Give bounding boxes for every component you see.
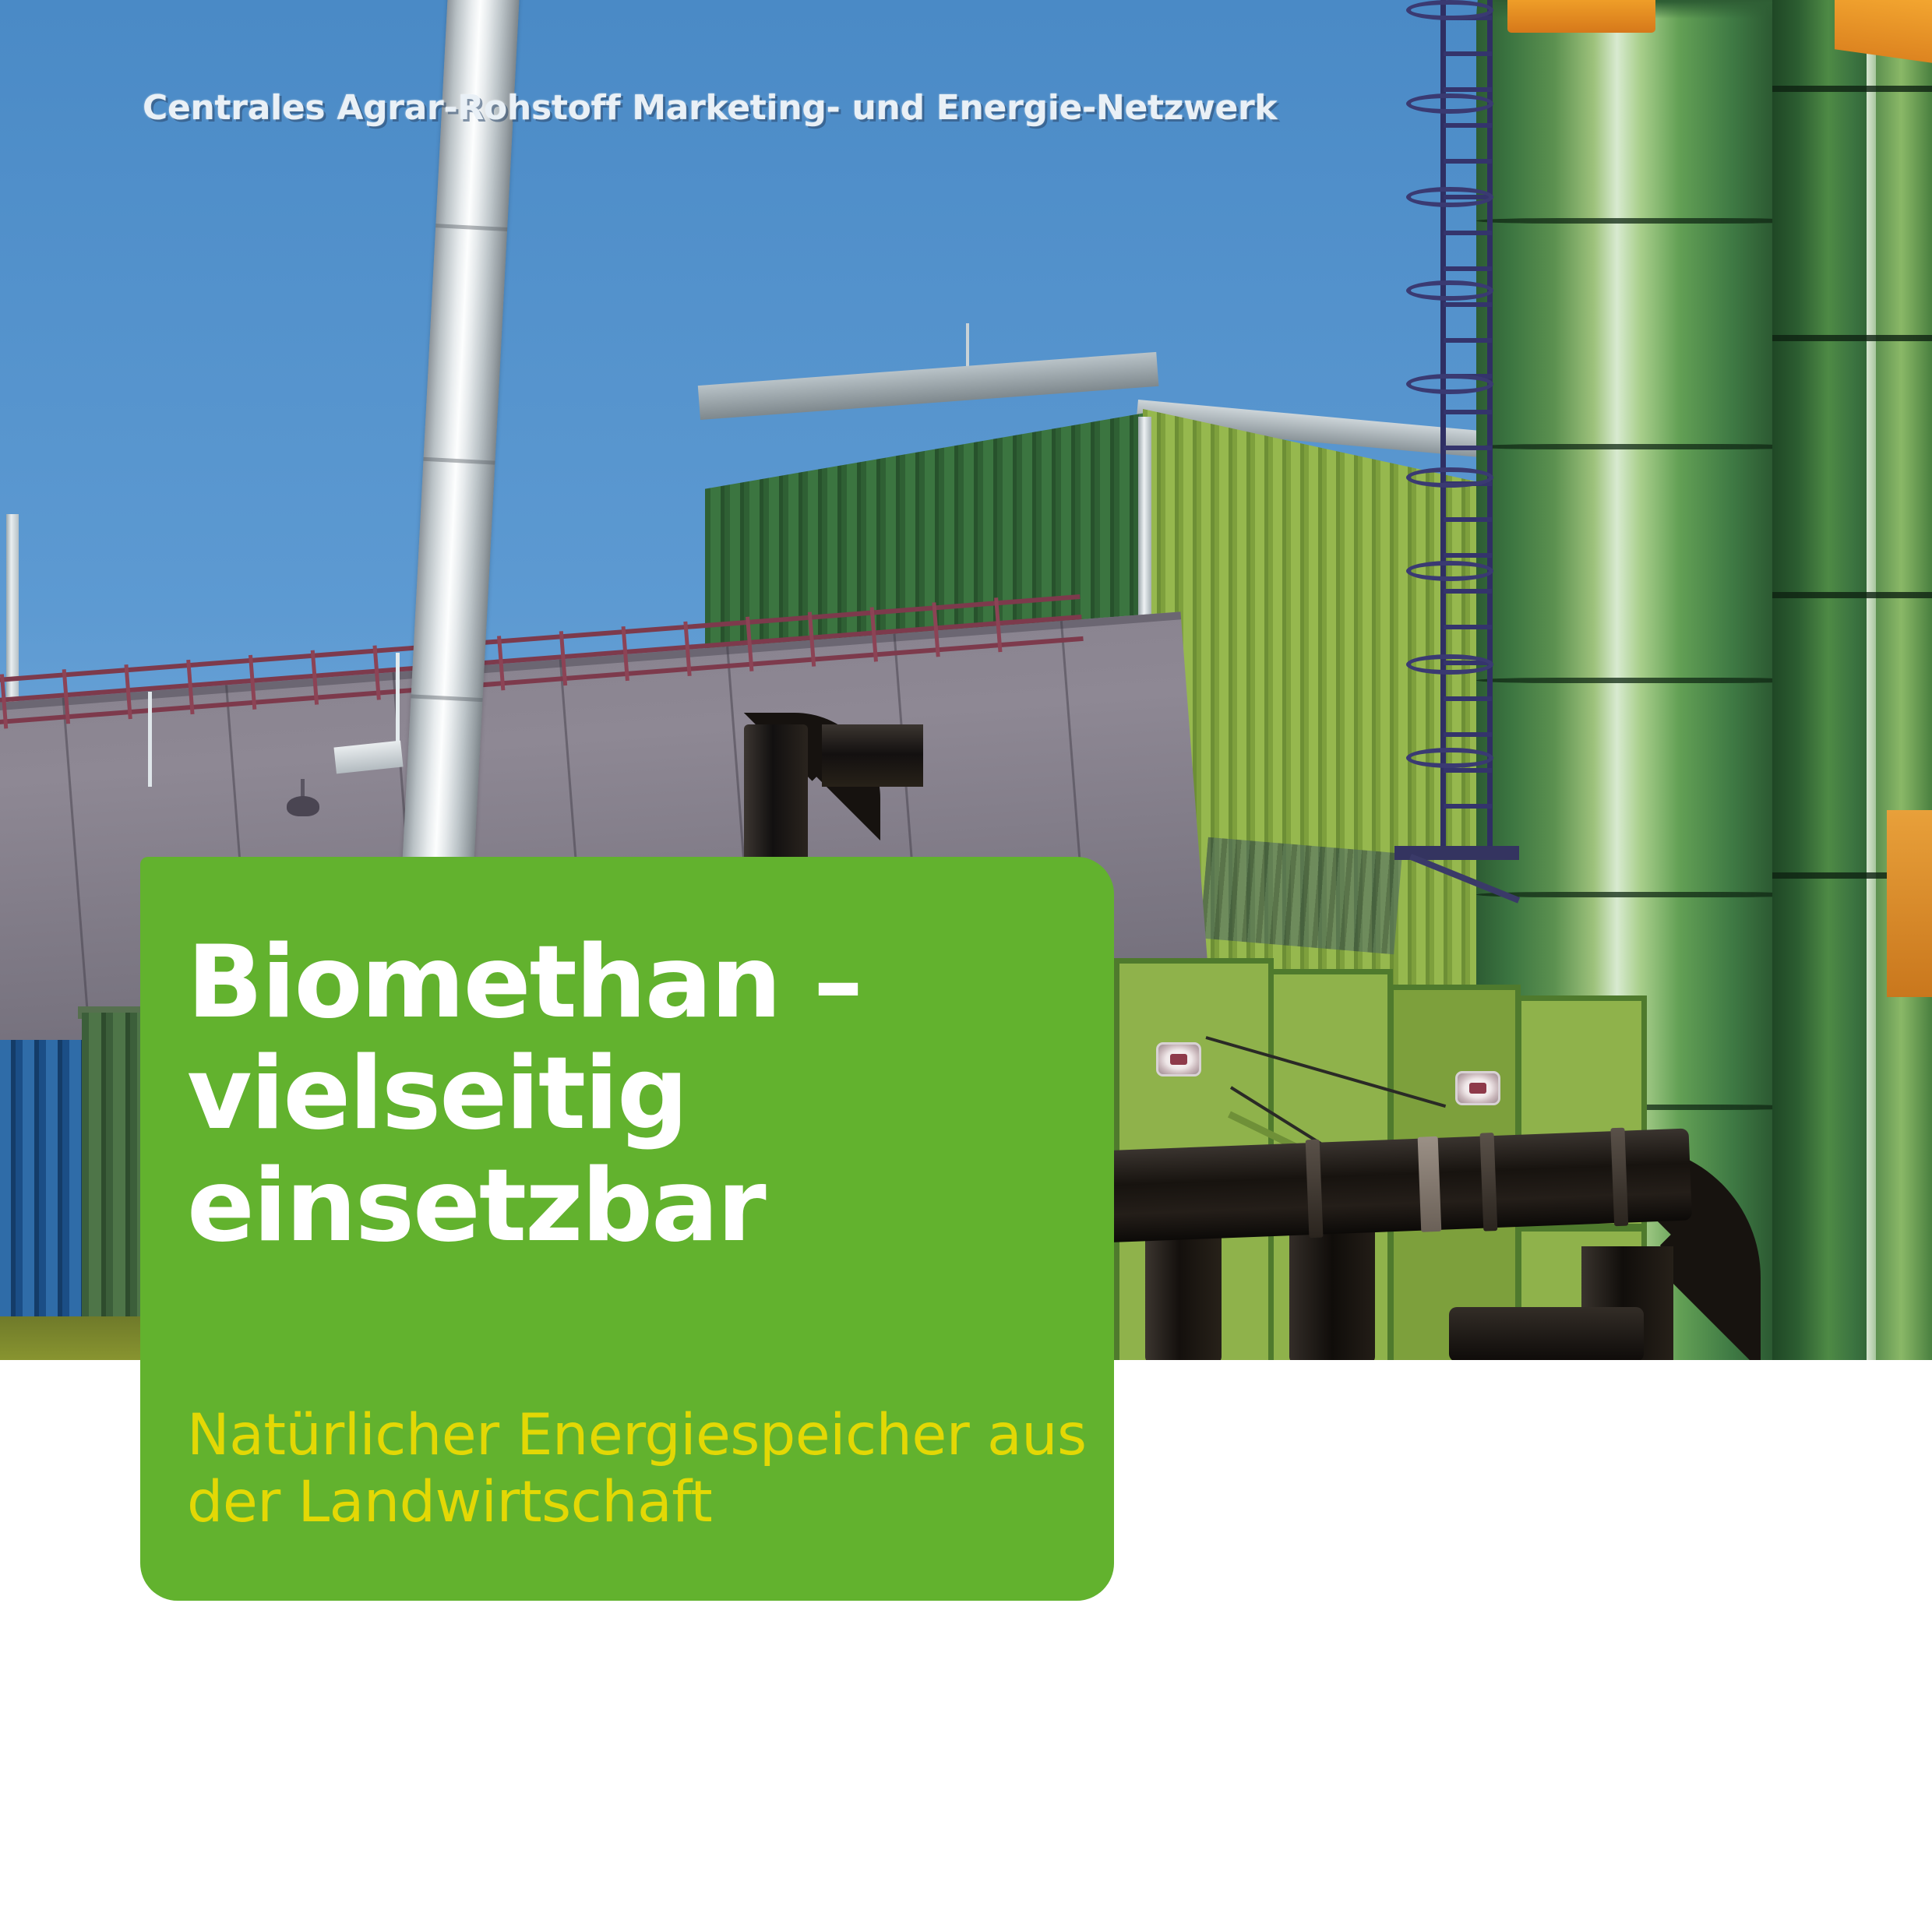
upper-pipe-horizontal [822, 724, 923, 787]
pipe-bottom-run [1449, 1307, 1644, 1360]
hall-louvre-window [1200, 837, 1402, 954]
orange-top-fitting [1507, 0, 1655, 33]
panel-vent-right [1455, 1071, 1500, 1105]
right-green-column-outer [1876, 0, 1932, 1360]
wall-antenna-right [396, 653, 400, 745]
hall-roof-edge-left [698, 352, 1159, 420]
pipe-branch-middle [1289, 1223, 1375, 1360]
page-subtitle: Natürlicher Energiespeicher aus der Land… [187, 1402, 1087, 1536]
organisation-caption: Centrales Agrar-Rohstoff Marketing- und … [143, 88, 1277, 128]
blue-container [0, 1040, 86, 1344]
title-card: Biomethan – vielseitig einsetzbar Natürl… [140, 857, 1114, 1601]
caged-ladder [1406, 0, 1498, 857]
wall-antenna-left [148, 692, 152, 787]
cover-page: Centrales Agrar-Rohstoff Marketing- und … [0, 0, 1932, 1931]
page-title: Biomethan – vielseitig einsetzbar [187, 927, 1114, 1262]
panel-vent-left [1156, 1042, 1201, 1076]
wall-lamp [287, 796, 319, 816]
orange-lower-fitting [1887, 810, 1932, 997]
